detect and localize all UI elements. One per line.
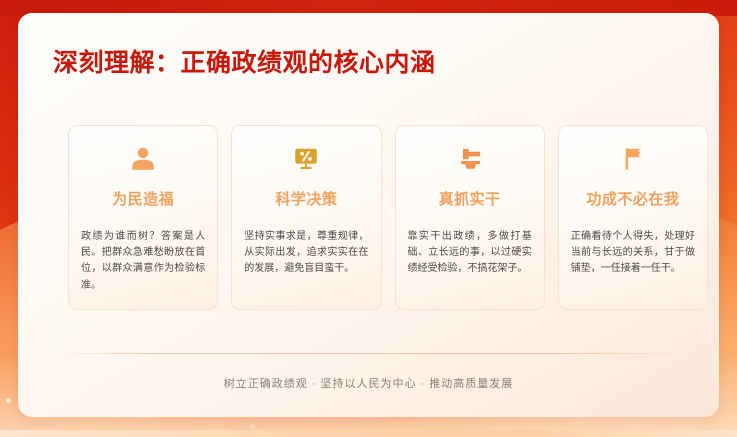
slide-canvas: 深刻理解：正确政绩观的核心内涵 为民造福 政绩为谁而树？答案是人民。把群众急难愁… (0, 0, 737, 437)
monitor-percent-icon (289, 142, 323, 176)
concept-card-selfless-achievement[interactable]: 功成不必在我 正确看待个人得失，处理好当前与长远的关系，甘于做铺垫，一任接着一任… (558, 125, 708, 310)
card-title: 功成不必在我 (586, 188, 679, 209)
concept-card-scientific-decision[interactable]: 科学决策 坚持实事求是，尊重规律，从实际出发，追求实实在在的发展，避免盲目蛮干。 (231, 125, 381, 310)
person-icon (126, 142, 160, 176)
card-title: 为民造福 (112, 188, 174, 209)
hammer-anvil-icon (453, 142, 487, 176)
card-body: 坚持实事求是，尊重规律，从实际出发，追求实实在在的发展，避免盲目蛮干。 (244, 229, 368, 278)
background-bottom-band (0, 430, 737, 437)
footer-divider (64, 353, 674, 354)
footer-slogan: 树立正确政绩观 · 坚持以人民为中心 · 推动高质量发展 (18, 375, 719, 391)
decorative-spark (6, 398, 11, 403)
card-body: 政绩为谁而树？答案是人民。把群众急难愁盼放在首位，以群众满意作为检验标准。 (81, 229, 205, 294)
card-body: 靠实干出政绩，多做打基础、立长远的事，以过硬实绩经受检验，不搞花架子。 (408, 229, 532, 278)
concept-card-serve-the-people[interactable]: 为民造福 政绩为谁而树？答案是人民。把群众急难愁盼放在首位，以群众满意作为检验标… (68, 125, 218, 310)
content-panel: 深刻理解：正确政绩观的核心内涵 为民造福 政绩为谁而树？答案是人民。把群众急难愁… (18, 13, 719, 417)
card-title: 科学决策 (275, 188, 337, 209)
card-grid: 为民造福 政绩为谁而树？答案是人民。把群众急难愁盼放在首位，以群众满意作为检验标… (68, 125, 708, 310)
card-title: 真抓实干 (439, 188, 501, 209)
card-body: 正确看待个人得失，处理好当前与长远的关系，甘于做铺垫，一任接着一任干。 (571, 229, 695, 278)
decorative-spark (250, 424, 255, 429)
page-title: 深刻理解：正确政绩观的核心内涵 (53, 43, 436, 79)
flag-icon (616, 142, 650, 176)
concept-card-real-work[interactable]: 真抓实干 靠实干出政绩，多做打基础、立长远的事，以过硬实绩经受检验，不搞花架子。 (395, 125, 545, 310)
